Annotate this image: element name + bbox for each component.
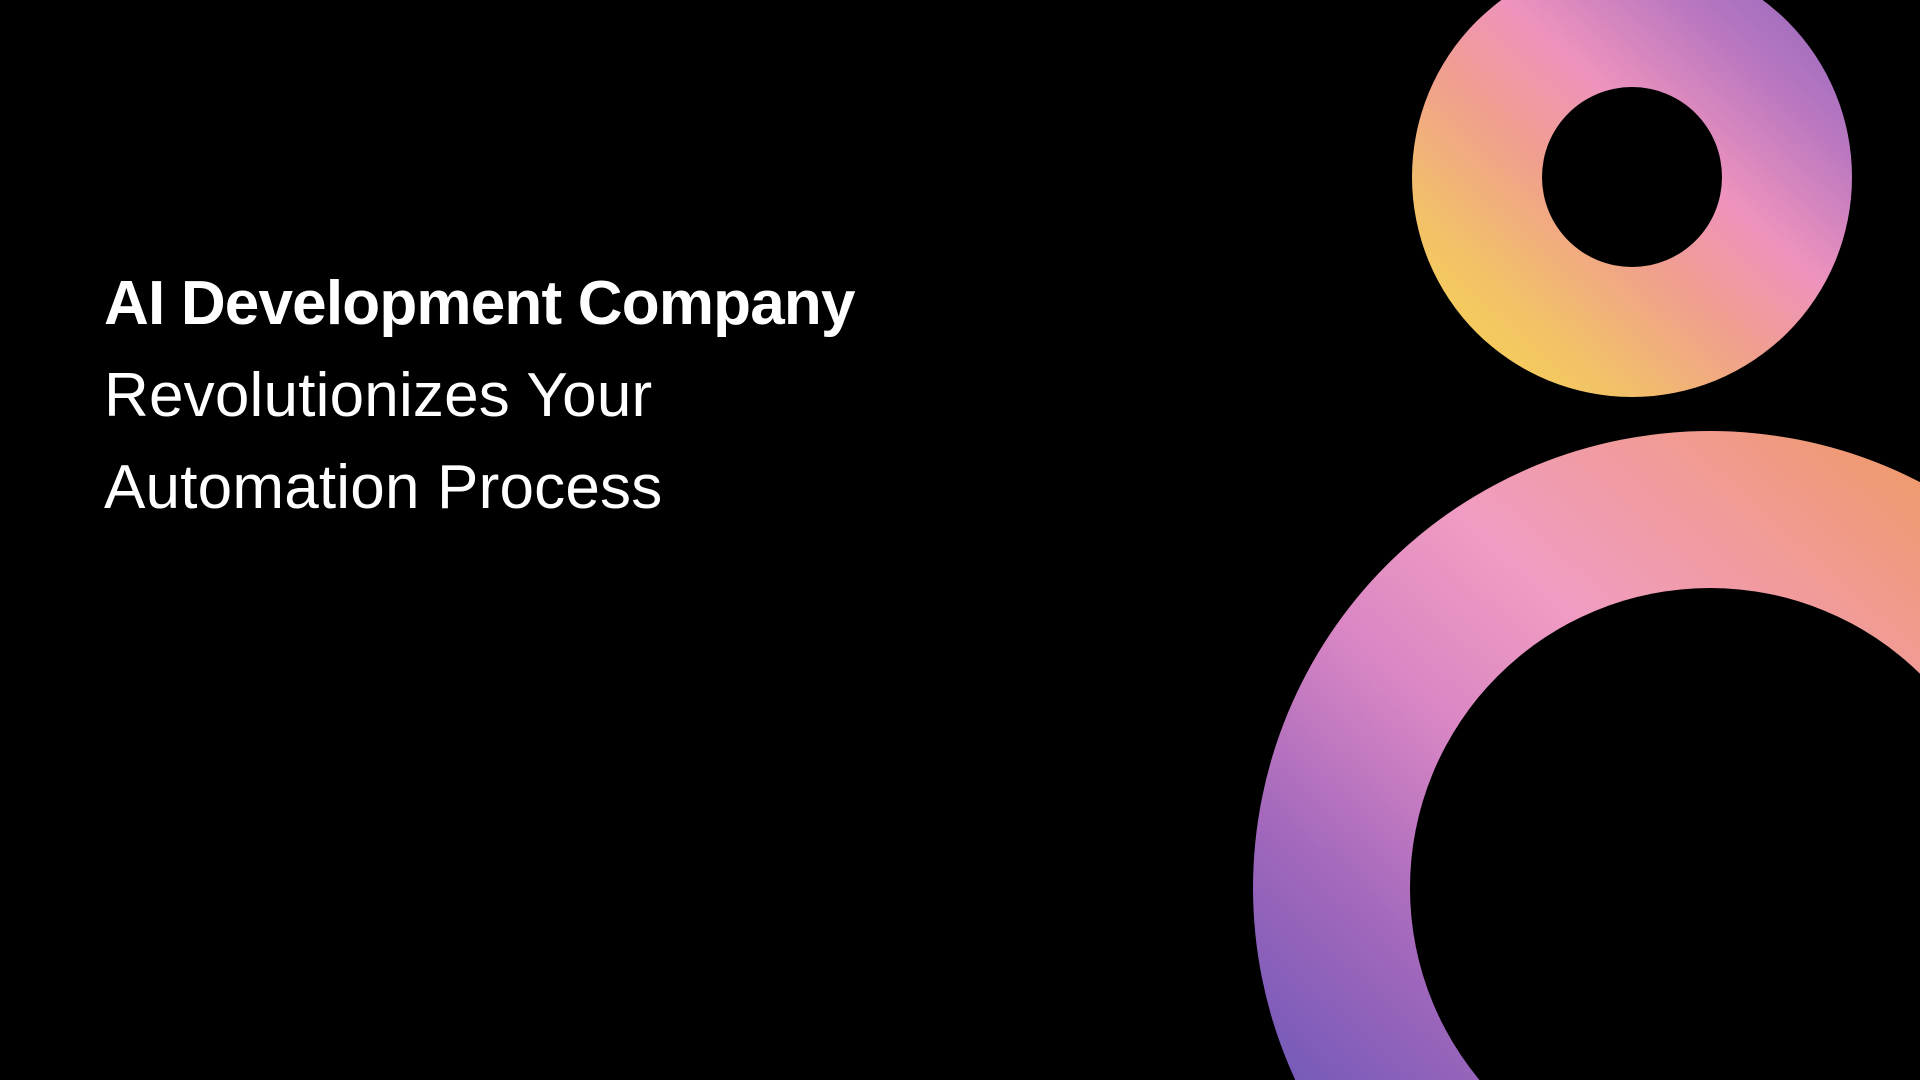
headline-line-3: Automation Process xyxy=(104,442,984,534)
large-ring-shape xyxy=(1253,431,1920,1080)
small-ring-shape xyxy=(1412,0,1852,397)
headline-line-1: AI Development Company xyxy=(104,258,984,350)
headline-line-2: Revolutionizes Your xyxy=(104,350,984,442)
page-title: AI Development Company Revolutionizes Yo… xyxy=(104,258,984,534)
slide-canvas: AI Development Company Revolutionizes Yo… xyxy=(0,0,1920,1080)
abstract-gradient-rings-graphic xyxy=(0,0,1920,1080)
